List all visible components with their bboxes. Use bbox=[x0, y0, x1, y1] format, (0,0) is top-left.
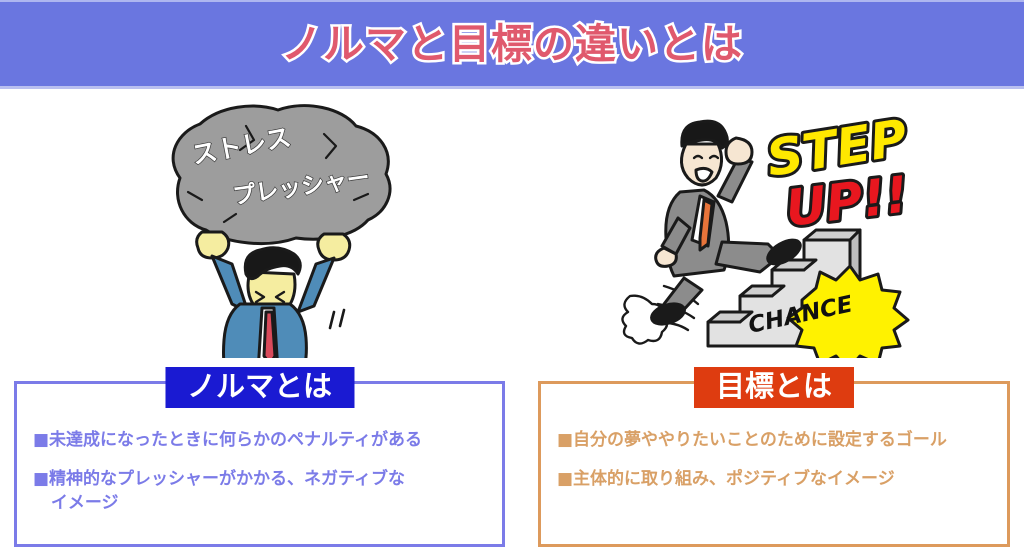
stepup-illustration: STEP UP!! CHANCE bbox=[620, 100, 920, 358]
page-title: ノルマと目標の違いとは bbox=[281, 24, 743, 65]
right-arm bbox=[298, 258, 334, 312]
bullet-item: ■精神的なプレッシャーがかかる、ネガティブな イメージ bbox=[33, 467, 488, 516]
title-banner: ノルマと目標の違いとは bbox=[0, 0, 1024, 89]
bullet-item: ■自分の夢ややりたいことのために設定するゴール bbox=[557, 428, 993, 453]
panel-heading-goal: 目標とは bbox=[694, 367, 854, 408]
stress-illustration: ストレス プレッシャー bbox=[128, 96, 418, 358]
fist bbox=[726, 138, 752, 164]
bullet-item: ■未達成になったときに何らかのペナルティがある bbox=[33, 428, 488, 453]
panel-heading-norma: ノルマとは bbox=[165, 367, 354, 408]
panel-norma: ノルマとは ■未達成になったときに何らかのペナルティがある ■精神的なプレッシャ… bbox=[14, 381, 505, 547]
panel-goal: 目標とは ■自分の夢ややりたいことのために設定するゴール ■主体的に取り組み、ポ… bbox=[538, 381, 1010, 547]
shout-text: STEP UP!! bbox=[763, 109, 912, 238]
bullet-item: ■主体的に取り組み、ポジティブなイメージ bbox=[557, 467, 993, 492]
